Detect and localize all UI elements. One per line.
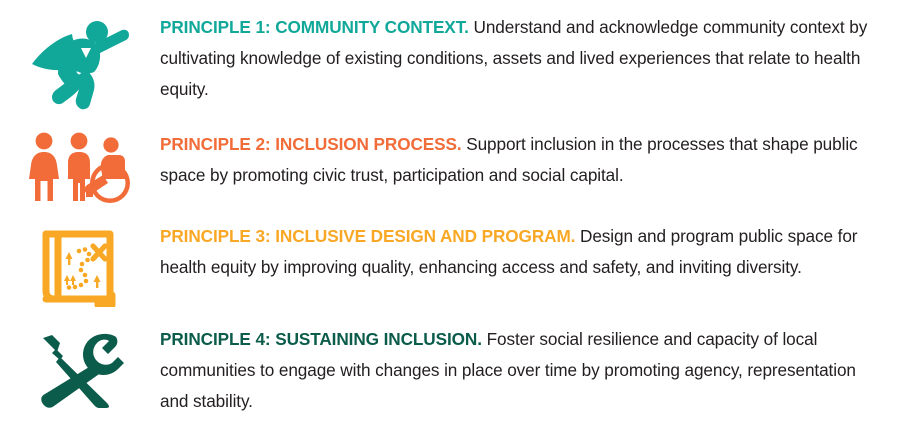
principle-4-heading: PRINCIPLE 4: SUSTAINING INCLUSION. <box>160 329 482 349</box>
principle-3-paragraph: PRINCIPLE 3: INCLUSIVE DESIGN AND PROGRA… <box>160 221 882 283</box>
superhero-cape-icon <box>28 16 132 112</box>
principle-1-icon-cell <box>0 12 160 112</box>
principle-3-heading: PRINCIPLE 3: INCLUSIVE DESIGN AND PROGRA… <box>160 226 575 246</box>
three-people-wheelchair-icon <box>24 131 136 203</box>
blueprint-map-icon <box>32 225 128 307</box>
principle-2-icon-cell <box>0 129 160 203</box>
principle-3-text-cell: PRINCIPLE 3: INCLUSIVE DESIGN AND PROGRA… <box>160 221 900 283</box>
principle-2-heading: PRINCIPLE 2: INCLUSION PROCESS. <box>160 134 462 154</box>
principle-row-4: PRINCIPLE 4: SUSTAINING INCLUSION. Foste… <box>0 307 900 417</box>
principle-1-heading: PRINCIPLE 1: COMMUNITY CONTEXT. <box>160 17 469 37</box>
principle-2-paragraph: PRINCIPLE 2: INCLUSION PROCESS. Support … <box>160 129 882 191</box>
principle-row-1: PRINCIPLE 1: COMMUNITY CONTEXT. Understa… <box>0 0 900 112</box>
principle-4-icon-cell <box>0 324 160 410</box>
principle-row-3: PRINCIPLE 3: INCLUSIVE DESIGN AND PROGRA… <box>0 203 900 307</box>
principle-2-text-cell: PRINCIPLE 2: INCLUSION PROCESS. Support … <box>160 129 900 191</box>
principle-1-paragraph: PRINCIPLE 1: COMMUNITY CONTEXT. Understa… <box>160 12 882 105</box>
principle-4-text-cell: PRINCIPLE 4: SUSTAINING INCLUSION. Foste… <box>160 324 900 417</box>
wrench-screwdriver-tools-icon <box>30 332 130 410</box>
principles-infographic: PRINCIPLE 1: COMMUNITY CONTEXT. Understa… <box>0 0 900 429</box>
principle-4-paragraph: PRINCIPLE 4: SUSTAINING INCLUSION. Foste… <box>160 324 882 417</box>
principle-1-text-cell: PRINCIPLE 1: COMMUNITY CONTEXT. Understa… <box>160 12 900 105</box>
principle-3-icon-cell <box>0 221 160 307</box>
principle-row-2: PRINCIPLE 2: INCLUSION PROCESS. Support … <box>0 112 900 203</box>
